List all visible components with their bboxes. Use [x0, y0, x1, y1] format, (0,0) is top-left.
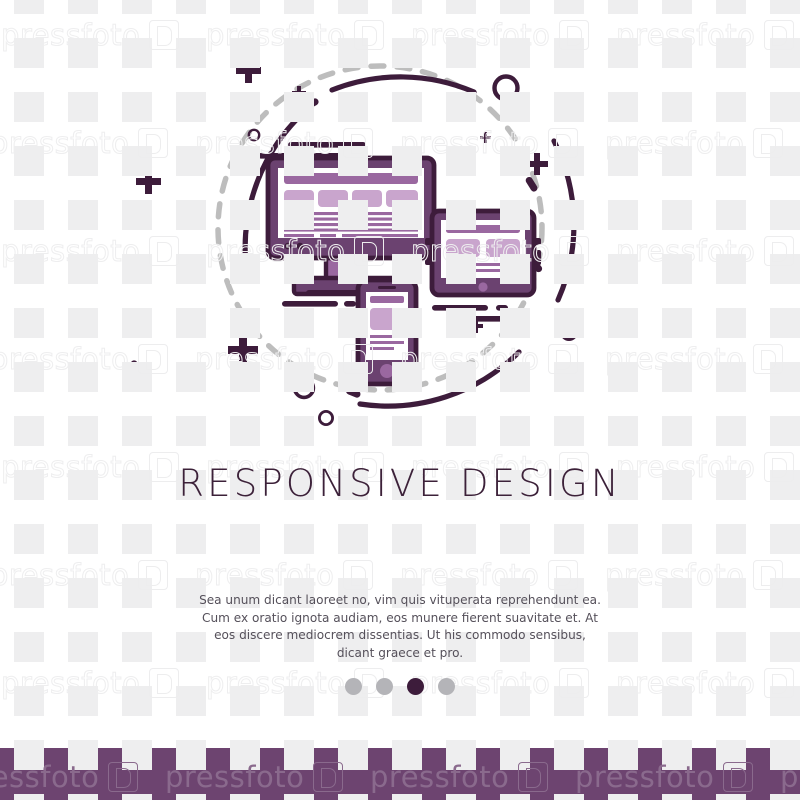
footer-bar — [0, 748, 800, 800]
watermark-text: pressfoto — [0, 558, 129, 592]
watermark-square — [68, 362, 98, 392]
watermark-square — [68, 254, 98, 284]
watermark-square — [608, 524, 638, 554]
watermark-square — [770, 92, 800, 122]
watermark-text: pressfoto — [605, 558, 744, 592]
watermark-square — [716, 308, 746, 338]
watermark-square — [392, 524, 422, 554]
pressfoto-logo-icon — [138, 560, 168, 590]
watermark-square — [122, 524, 152, 554]
watermark-text: pressfoto — [400, 558, 539, 592]
watermark-square — [14, 524, 44, 554]
watermark-square — [14, 92, 44, 122]
watermark-square — [68, 578, 98, 608]
watermark-square — [662, 578, 692, 608]
watermark-square — [554, 524, 584, 554]
watermark-square — [14, 362, 44, 392]
watermark-square — [176, 0, 206, 14]
pressfoto-logo-icon — [753, 344, 783, 374]
watermark-square — [716, 92, 746, 122]
pressfoto-logo-icon — [753, 128, 783, 158]
watermark-square — [716, 38, 746, 68]
watermark-square — [716, 0, 746, 14]
watermark-square — [68, 200, 98, 230]
watermark-square — [770, 0, 800, 14]
watermark-square — [716, 362, 746, 392]
pagination-dot-4[interactable] — [438, 678, 455, 695]
pressfoto-logo-icon — [764, 20, 794, 50]
pagination-dots[interactable] — [0, 678, 800, 695]
watermark-square — [122, 0, 152, 14]
pagination-dot-1[interactable] — [345, 678, 362, 695]
watermark-square — [770, 578, 800, 608]
watermark-square — [662, 524, 692, 554]
watermark-square — [716, 578, 746, 608]
watermark-square — [68, 92, 98, 122]
watermark-square — [608, 0, 638, 14]
watermark-square — [68, 416, 98, 446]
watermark-square — [68, 632, 98, 662]
banner-canvas: pressfotopressfotopressfotopressfotopres… — [0, 0, 800, 800]
watermark-square — [770, 416, 800, 446]
watermark-square — [770, 254, 800, 284]
pressfoto-logo-icon — [343, 560, 373, 590]
watermark-square — [68, 524, 98, 554]
watermark-square — [284, 524, 314, 554]
watermark-square — [68, 308, 98, 338]
watermark-square — [716, 254, 746, 284]
watermark-square — [176, 524, 206, 554]
watermark-square — [716, 200, 746, 230]
watermark-square — [716, 146, 746, 176]
watermark-square — [68, 0, 98, 14]
watermark-square — [14, 632, 44, 662]
watermark-square — [500, 524, 530, 554]
watermark-square — [770, 38, 800, 68]
watermark-text: pressfoto — [195, 558, 334, 592]
pagination-dot-3[interactable] — [407, 678, 424, 695]
watermark-square — [284, 0, 314, 14]
watermark-square — [14, 578, 44, 608]
watermark-square — [230, 524, 260, 554]
watermark-square — [122, 578, 152, 608]
page-title: RESPONSIVE DESIGN — [0, 462, 800, 505]
watermark-square — [662, 632, 692, 662]
watermark-square — [230, 0, 260, 14]
watermark-square — [608, 632, 638, 662]
watermark-square — [14, 200, 44, 230]
pressfoto-logo-icon — [753, 560, 783, 590]
responsive-devices-illustration — [130, 40, 670, 430]
watermark-square — [338, 524, 368, 554]
watermark-square — [14, 416, 44, 446]
watermark-text: pressfoto — [0, 126, 129, 160]
watermark-square — [14, 254, 44, 284]
watermark-square — [770, 362, 800, 392]
watermark-square — [392, 0, 422, 14]
watermark-square — [770, 524, 800, 554]
pagination-dot-2[interactable] — [376, 678, 393, 695]
watermark-text: pressfoto — [1, 234, 140, 268]
watermark-square — [68, 38, 98, 68]
watermark-square — [608, 578, 638, 608]
watermark-square — [446, 0, 476, 14]
watermark-square — [338, 0, 368, 14]
watermark-square — [716, 632, 746, 662]
pressfoto-logo-icon — [548, 560, 578, 590]
watermark-square — [770, 146, 800, 176]
watermark-square — [770, 200, 800, 230]
body-paragraph: Sea unum dicant laoreet no, vim quis vit… — [196, 592, 604, 662]
watermark-text: pressfoto — [0, 342, 129, 376]
watermark-square — [662, 0, 692, 14]
watermark-square — [770, 308, 800, 338]
watermark-square — [14, 0, 44, 14]
smartphone-icon — [358, 280, 416, 384]
pressfoto-logo-icon — [764, 236, 794, 266]
watermark-square — [122, 632, 152, 662]
watermark-square — [14, 308, 44, 338]
watermark-text: pressfoto — [1, 18, 140, 52]
watermark-square — [68, 146, 98, 176]
watermark-square — [770, 632, 800, 662]
watermark-square — [716, 524, 746, 554]
watermark-square — [14, 146, 44, 176]
watermark-square — [446, 524, 476, 554]
watermark-square — [500, 0, 530, 14]
watermark-square — [554, 0, 584, 14]
watermark-square — [716, 416, 746, 446]
watermark-square — [14, 38, 44, 68]
